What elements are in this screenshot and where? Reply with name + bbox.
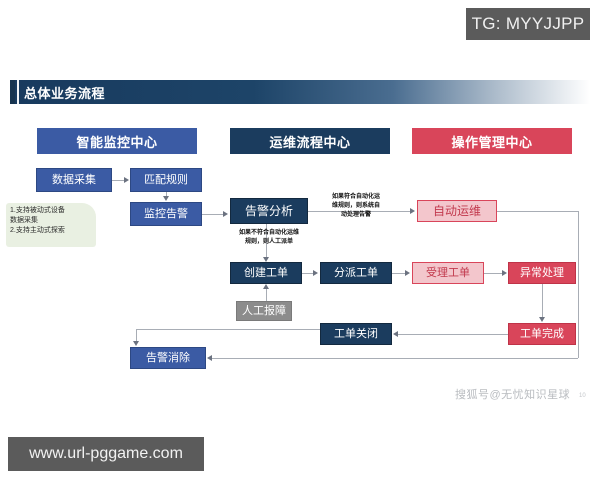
- slide-title-accent-secondary: [17, 80, 19, 104]
- arrowhead-manual-create: [263, 284, 269, 289]
- annotation-auto-line-1: 如果符合自动化运: [318, 193, 394, 202]
- annotation-manual-line-1: 如果不符合自动化运维: [226, 229, 312, 238]
- node-manual-report[interactable]: 人工报障: [236, 301, 292, 321]
- node-auto-ops[interactable]: 自动运维: [417, 200, 497, 222]
- watermark: 搜狐号@无忧知识星球: [455, 386, 570, 402]
- arrowhead-rule-alarm: [163, 196, 169, 201]
- callout-line-3: 2.支持主动式探索: [10, 226, 92, 236]
- tg-badge: TG: MYYJJPP: [466, 8, 590, 40]
- connector-close-clear-horizontal: [136, 329, 320, 330]
- connector-manual-create: [266, 288, 267, 301]
- node-accept-ticket[interactable]: 受理工单: [412, 262, 484, 284]
- arrowhead-accept-except: [502, 270, 507, 276]
- node-create-ticket[interactable]: 创建工单: [230, 262, 302, 284]
- connector-auto-loop-right: [578, 211, 579, 358]
- arrowhead-assign-accept: [405, 270, 410, 276]
- connector-except-done: [542, 284, 543, 318]
- arrowhead-create-assign: [313, 270, 318, 276]
- connector-assign-accept: [392, 273, 406, 274]
- annotation-manual-dispatch: 如果不符合自动化运维 规则，则人工派单: [226, 229, 312, 247]
- column-header-ops: 运维流程中心: [230, 128, 390, 154]
- arrowhead-auto-clear: [207, 355, 212, 361]
- connector-done-close: [398, 334, 508, 335]
- arrowhead-alarm-analysis: [223, 211, 228, 217]
- node-exception-handle[interactable]: 异常处理: [508, 262, 576, 284]
- node-data-collection[interactable]: 数据采集: [36, 168, 112, 192]
- node-alarm-clear[interactable]: 告警消除: [130, 347, 206, 369]
- node-close-ticket[interactable]: 工单关闭: [320, 323, 392, 345]
- annotation-manual-line-2: 规则，则人工派单: [226, 238, 312, 247]
- arrowhead-close-clear: [133, 341, 139, 346]
- page-number: 10: [579, 393, 586, 399]
- node-match-rule[interactable]: 匹配规则: [130, 168, 202, 192]
- slide-title-accent: [10, 80, 15, 104]
- node-alarm-analysis[interactable]: 告警分析: [230, 198, 308, 224]
- annotation-auto-rule-match: 如果符合自动化运 维规则，则系统自 动处理告警: [318, 193, 394, 220]
- connector-auto-loop-bottom: [212, 358, 578, 359]
- arrowhead-done-close: [393, 331, 398, 337]
- connector-accept-except: [484, 273, 503, 274]
- callout-data-collection: 1.支持被动式设备 数据采集 2.支持主动式探索: [6, 203, 96, 247]
- annotation-auto-line-3: 动处理告警: [318, 211, 394, 220]
- column-header-monitor: 智能监控中心: [37, 128, 197, 154]
- node-assign-ticket[interactable]: 分派工单: [320, 262, 392, 284]
- connector-auto-loop-top: [497, 211, 578, 212]
- arrowhead-except-done: [539, 317, 545, 322]
- column-header-manage: 操作管理中心: [412, 128, 572, 154]
- connector-alarm-analysis: [202, 214, 224, 215]
- url-banner: www.url-pggame.com: [8, 437, 204, 471]
- callout-line-2: 数据采集: [10, 216, 92, 226]
- callout-line-1: 1.支持被动式设备: [10, 206, 92, 216]
- node-ticket-done[interactable]: 工单完成: [508, 323, 576, 345]
- node-monitor-alarm[interactable]: 监控告警: [130, 202, 202, 226]
- page-title: 总体业务流程: [24, 80, 105, 104]
- arrowhead-collect-rule: [124, 177, 129, 183]
- arrowhead-analysis-auto: [410, 208, 415, 214]
- annotation-auto-line-2: 维规则，则系统自: [318, 202, 394, 211]
